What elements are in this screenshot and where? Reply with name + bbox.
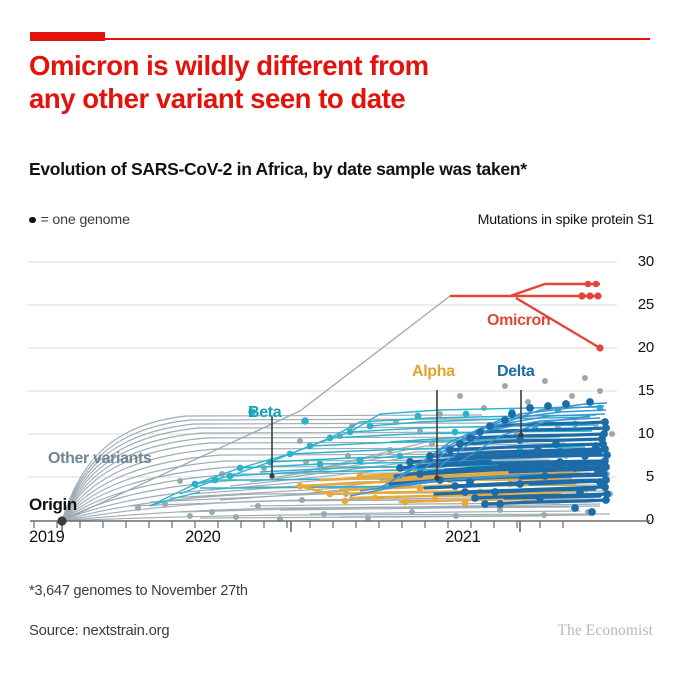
legend: = one genome <box>29 212 130 228</box>
x-axis-svg <box>0 510 680 550</box>
x-tick-2019: 2019 <box>29 528 65 547</box>
page-title-line-1: Omicron is wildly different from <box>29 50 429 81</box>
x-tick-2021: 2021 <box>445 528 481 547</box>
x-tick-2020: 2020 <box>185 528 221 547</box>
annotation-omicron: Omicron <box>487 312 550 330</box>
header-rule-line <box>105 38 650 40</box>
origin-marker-dot <box>57 516 66 525</box>
page-title: Omicron is wildly different from any oth… <box>29 49 629 115</box>
x-axis-minor-ticks <box>34 521 563 528</box>
annotation-delta: Delta <box>497 363 534 381</box>
omicron-dots <box>578 281 603 352</box>
economist-logo: The Economist <box>557 622 653 640</box>
chart-plot-area <box>0 236 680 536</box>
header-rule <box>30 32 650 42</box>
legend-label: = one genome <box>41 212 130 228</box>
x-axis: 2019 2020 2021 <box>0 510 680 550</box>
phylogeny-svg <box>0 236 680 536</box>
annotation-alpha: Alpha <box>412 363 455 381</box>
annotation-other-variants: Other variants <box>48 450 152 468</box>
page-title-line-2: any other variant seen to date <box>29 82 629 115</box>
y-axis-title: Mutations in spike protein S1 <box>478 212 654 228</box>
annotation-beta: Beta <box>248 404 281 422</box>
one-genome-dot-icon <box>29 217 36 224</box>
source-line: Source: nextstrain.org <box>29 623 169 639</box>
header-rule-block <box>30 32 105 41</box>
footnote: *3,647 genomes to November 27th <box>29 583 248 599</box>
infographic-root: Omicron is wildly different from any oth… <box>0 0 680 680</box>
page-subtitle: Evolution of SARS-CoV-2 in Africa, by da… <box>29 158 659 180</box>
